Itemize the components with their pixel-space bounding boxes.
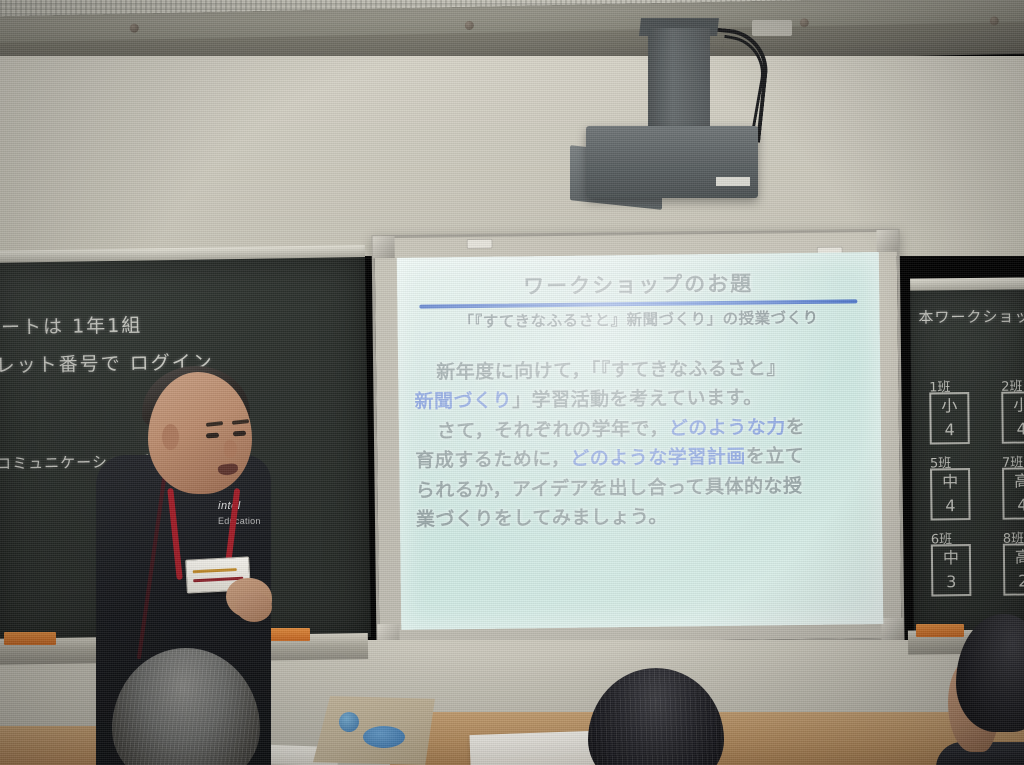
group-box: 中 4	[930, 468, 971, 520]
group-box-line1: 高	[1005, 545, 1024, 569]
classroom-scene: ノートは 1年1組 ブレット番号で ログイン 国コミュニケーションウ 本ワークシ…	[0, 0, 1024, 765]
group-box-line2: 2	[1005, 569, 1024, 593]
slide-body-line: られるか，アイデアを出し合って具体的な授	[415, 471, 865, 506]
intel-round-sticker	[339, 712, 359, 732]
slide-body-text: を立て	[746, 445, 805, 468]
projected-slide: ワークショップのお題 「『すてきなふるさと』新聞づくり」の授業づくり 新年度に向…	[397, 252, 884, 630]
blackboard-frame-top	[910, 277, 1024, 290]
slide-title: ワークショップのお題	[413, 266, 863, 301]
presenter-ear	[162, 424, 179, 450]
group-box-line2: 4	[1004, 417, 1024, 441]
group-box: 高 2	[1003, 543, 1024, 595]
group-box-line1: 小	[1003, 393, 1024, 417]
slide-body-text: 業づくりをしてみましょう。	[416, 506, 668, 531]
group-box-line1: 中	[932, 470, 968, 494]
whiteboard-corner	[881, 618, 903, 640]
group-box-line1: 小	[931, 394, 967, 418]
upper-wall	[0, 56, 1024, 256]
slide-body-text: 」学習活動を考えています。	[512, 387, 763, 412]
whiteboard-corner	[373, 236, 395, 258]
right-blackboard: 本ワークショッ 1班 小 4 2班 小 4 5班 中 4 7班 高 4 6班 中…	[910, 287, 1024, 640]
whiteboard-corner	[876, 230, 898, 252]
eraser-far-right[interactable]	[916, 624, 964, 637]
beam-bolt	[800, 18, 809, 27]
slide-body-accent-text: 新聞づくり	[414, 390, 512, 413]
slide-body-text: られるか，アイデアを出し合って具体的な授	[415, 475, 802, 502]
slide-body: 新年度に向けて，「『すてきなふるさと』新聞づくり」学習活動を考えています。さて，…	[414, 353, 866, 535]
magnet-clip-left[interactable]	[467, 239, 493, 249]
presenter-eye	[206, 433, 219, 439]
group-box-line2: 4	[932, 418, 968, 442]
group-box-line2: 3	[933, 570, 969, 594]
slide-body-text: 新年度に向けて，「『すてきなふるさと』	[436, 357, 786, 383]
group-box-line2: 4	[1004, 493, 1024, 517]
group-box: 中 3	[931, 544, 972, 596]
presenter-hand-second	[236, 592, 272, 622]
slide-body-text: 育成するために，	[415, 448, 570, 472]
chalk-line-1: ノートは 1年1組	[0, 311, 142, 341]
slide-body-accent-text: どのような学習計画	[570, 446, 746, 470]
slide-body-accent-text: どのような力	[669, 416, 786, 439]
slide-body-text: を	[786, 416, 806, 438]
ceiling-mounted-projector	[560, 8, 780, 213]
slide-subtitle: 「『すてきなふるさと』新聞づくり」の授業づくり	[413, 305, 863, 332]
projector-body	[586, 126, 758, 198]
ceiling-mount-pole	[648, 28, 710, 140]
presenter-eye	[233, 431, 246, 437]
beam-bolt	[990, 16, 999, 25]
open-laptop[interactable]	[313, 696, 435, 765]
intel-oval-sticker	[363, 726, 405, 748]
badge-text-line	[193, 568, 237, 573]
projection-whiteboard: ワークショップのお題 「『すてきなふるさと』新聞づくり」の授業づくり 新年度に向…	[372, 229, 905, 647]
group-box-line1: 中	[933, 546, 969, 570]
slide-body-line: 業づくりをしてみましょう。	[416, 500, 866, 535]
intel-sublabel: Education	[218, 516, 274, 528]
eraser-left[interactable]	[4, 632, 56, 645]
group-box-line1: 高	[1004, 469, 1024, 493]
presenter-nose	[224, 440, 237, 458]
right-blackboard-heading: 本ワークショッ	[918, 305, 1024, 327]
group-box: 小 4	[929, 392, 970, 444]
group-box: 小 4	[1001, 391, 1024, 443]
group-box-line2: 4	[932, 494, 968, 518]
projector-label	[716, 177, 750, 186]
ceiling-socket	[752, 20, 792, 36]
slide-body-text: さて，それぞれの学年で，	[437, 417, 669, 442]
group-box: 高 4	[1002, 467, 1024, 519]
